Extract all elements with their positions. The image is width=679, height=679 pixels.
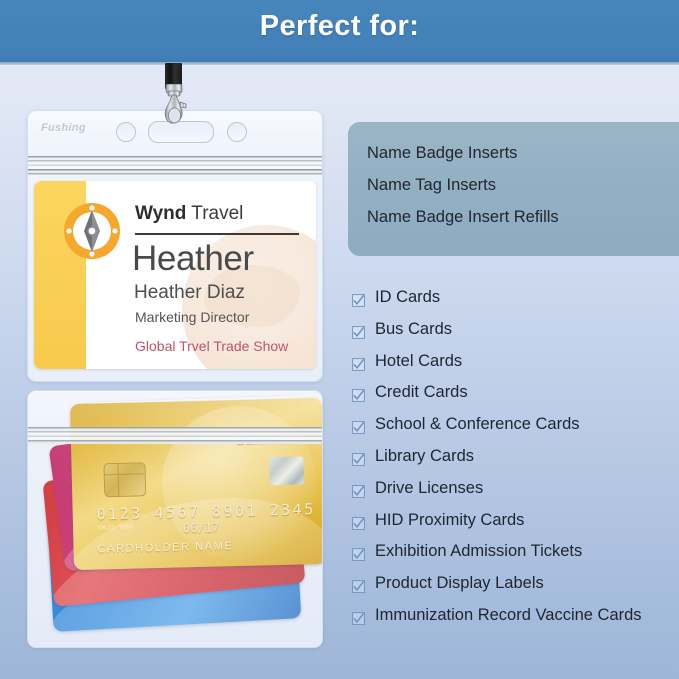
check-icon <box>352 294 365 307</box>
insert-company-name: Wynd Travel <box>135 203 243 225</box>
check-list-item-label: Drive Licenses <box>375 479 483 498</box>
badge-holder-pouch: Fushing Wynd Travel Heather H <box>27 110 323 382</box>
insert-job-title: Marketing Director <box>135 309 249 325</box>
gold-card-valid-label: VALID THRU <box>97 525 133 532</box>
check-list-item[interactable]: Exhibition Admission Tickets <box>352 542 679 574</box>
check-icon <box>352 453 365 466</box>
swivel-hook-clip-icon <box>152 84 196 130</box>
check-icon <box>352 485 365 498</box>
check-icon <box>352 358 365 371</box>
brand-emboss-text: Fushing <box>41 122 86 134</box>
gold-card-expiry: 06/17 <box>183 520 219 535</box>
check-list-item[interactable]: HID Proximity Cards <box>352 511 679 543</box>
punch-hole-right-icon <box>227 122 247 142</box>
insert-full-name: Heather Diaz <box>134 282 245 304</box>
check-icon <box>352 326 365 339</box>
use-case-check-list: ID CardsBus CardsHotel CardsCredit Cards… <box>352 288 679 638</box>
check-list-item-label: Credit Cards <box>375 383 468 402</box>
check-list-item-label: School & Conference Cards <box>375 415 580 434</box>
check-icon <box>352 548 365 561</box>
check-icon <box>352 580 365 593</box>
insert-divider <box>135 233 299 235</box>
card-zip-seal-icon <box>28 427 322 444</box>
check-list-item-label: Immunization Record Vaccine Cards <box>375 606 642 625</box>
insert-first-name: Heather <box>132 239 254 279</box>
check-list-item-label: Product Display Labels <box>375 574 544 593</box>
check-icon <box>352 517 365 530</box>
highlight-panel: Name Badge Inserts Name Tag Inserts Name… <box>348 122 679 256</box>
check-list-item-label: Hotel Cards <box>375 352 462 371</box>
header-banner: Perfect for: <box>0 0 679 62</box>
check-icon <box>352 389 365 402</box>
zip-seal-icon <box>28 156 322 176</box>
check-list-item[interactable]: Bus Cards <box>352 320 679 352</box>
bank-card-gold: Bank Name 0123 4567 8901 2345 VALID THRU… <box>70 398 323 570</box>
check-list-item[interactable]: Drive Licenses <box>352 479 679 511</box>
check-icon <box>352 612 365 625</box>
check-list-item[interactable]: Credit Cards <box>352 383 679 415</box>
card-holder-pouch: CARDHOLDER NAME 06/17 CARDHOLDER NAME Ba… <box>27 390 323 648</box>
insert-company-rest: Travel <box>186 203 243 224</box>
product-feature-panel: Perfect for: Fushing <box>0 0 679 679</box>
compass-icon <box>60 199 124 263</box>
page-title: Perfect for: <box>0 10 679 43</box>
highlight-item-0: Name Badge Inserts <box>367 144 517 163</box>
highlight-item-1: Name Tag Inserts <box>367 176 496 195</box>
check-list-item[interactable]: ID Cards <box>352 288 679 320</box>
name-badge-insert: Wynd Travel Heather Heather Diaz Marketi… <box>34 181 316 369</box>
check-list-item[interactable]: Hotel Cards <box>352 352 679 384</box>
check-list-item[interactable]: School & Conference Cards <box>352 415 679 447</box>
punch-hole-left-icon <box>116 122 136 142</box>
insert-event-name: Global Trvel Trade Show <box>135 338 288 354</box>
check-list-item[interactable]: Library Cards <box>352 447 679 479</box>
check-list-item[interactable]: Immunization Record Vaccine Cards <box>352 606 679 638</box>
emv-chip-icon <box>103 462 146 497</box>
insert-company-bold: Wynd <box>135 203 186 224</box>
hologram-icon <box>269 456 304 485</box>
check-list-item-label: Bus Cards <box>375 320 452 339</box>
check-list-item-label: ID Cards <box>375 288 440 307</box>
check-icon <box>352 421 365 434</box>
header-underline <box>0 62 679 65</box>
check-list-item-label: Exhibition Admission Tickets <box>375 542 582 561</box>
highlight-item-2: Name Badge Insert Refills <box>367 208 559 227</box>
check-list-item[interactable]: Product Display Labels <box>352 574 679 606</box>
check-list-item-label: HID Proximity Cards <box>375 511 524 530</box>
check-list-item-label: Library Cards <box>375 447 474 466</box>
